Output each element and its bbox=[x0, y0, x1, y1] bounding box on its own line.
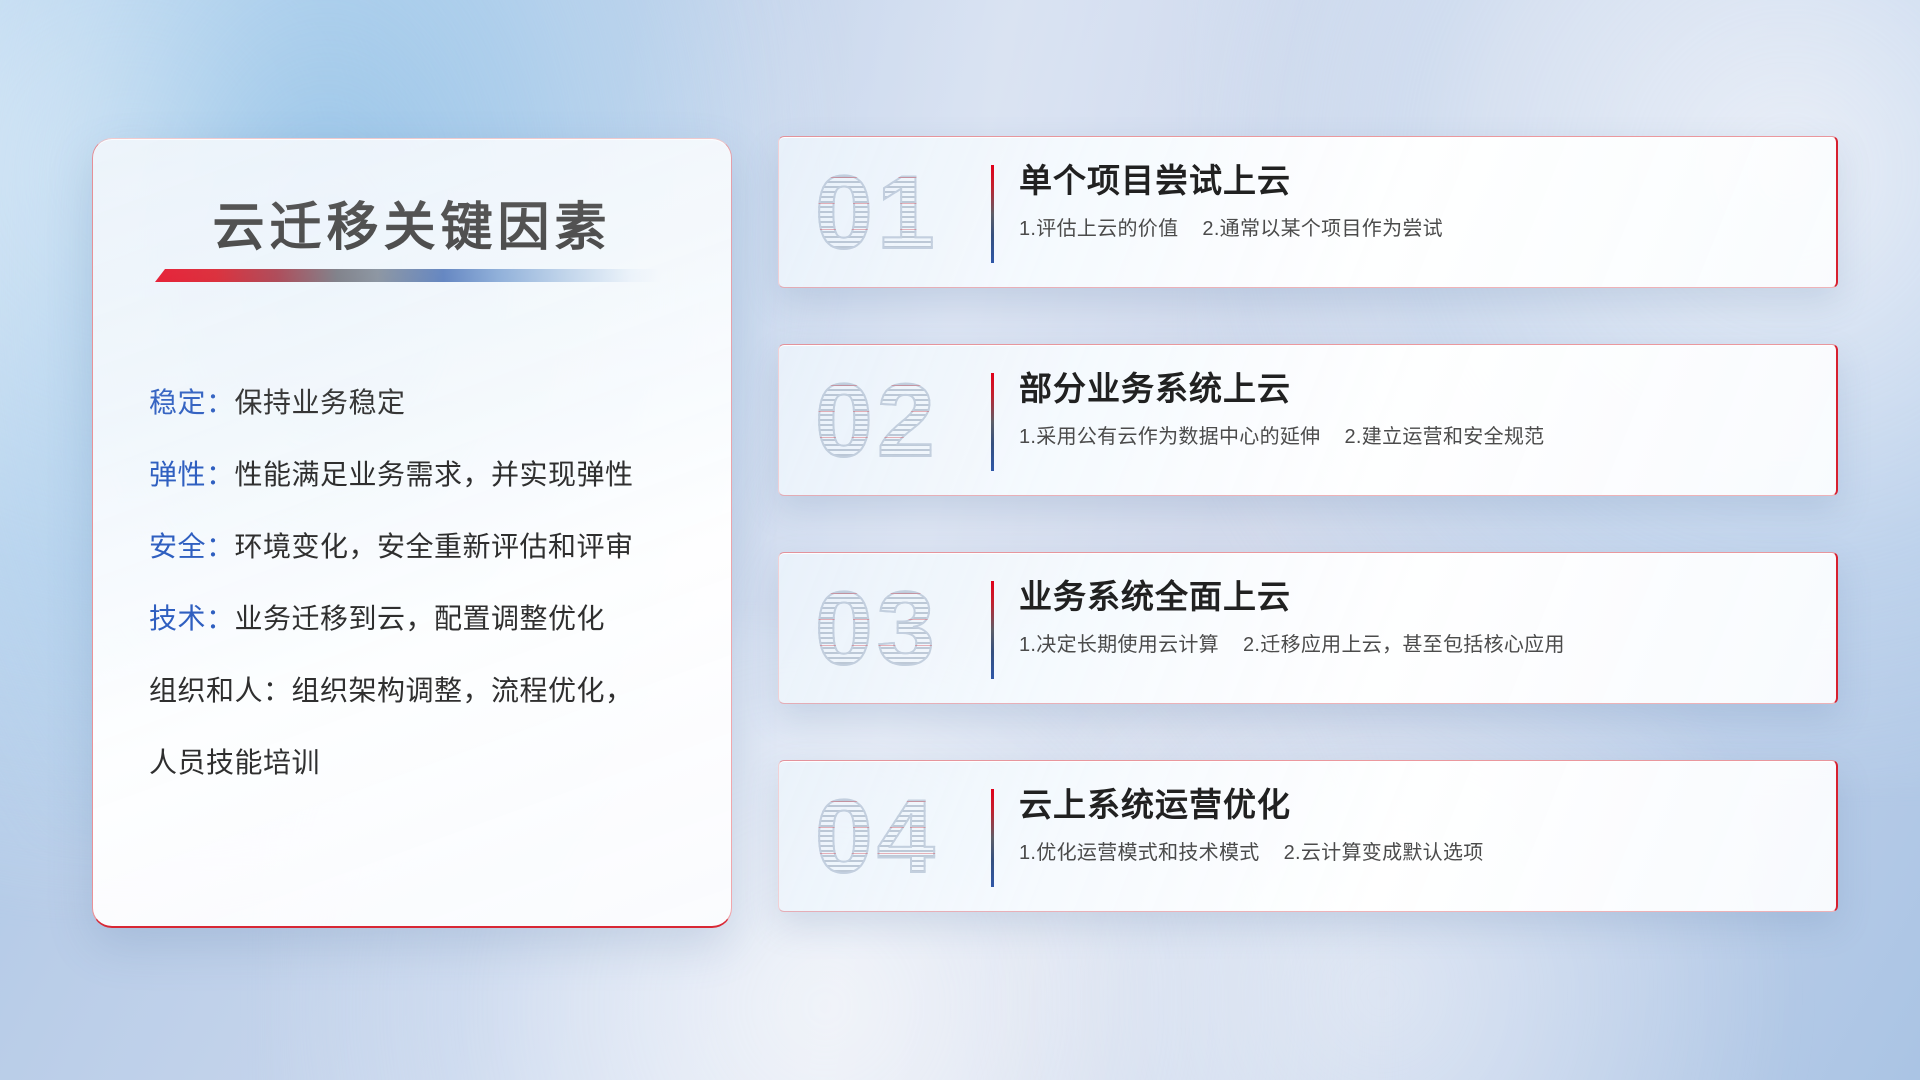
card-title: 单个项目尝试上云 bbox=[1019, 159, 1814, 203]
card-subtitle-item: 2.通常以某个项目作为尝试 bbox=[1202, 218, 1443, 240]
card-subtitle: 1.采用公有云作为数据中心的延伸2.建立运营和安全规范 bbox=[1019, 423, 1814, 451]
migration-stage-cards: 0101单个项目尝试上云1.评估上云的价值2.通常以某个项目作为尝试0202部分… bbox=[778, 136, 1838, 912]
stage-card[interactable]: 0101单个项目尝试上云1.评估上云的价值2.通常以某个项目作为尝试 bbox=[778, 136, 1838, 288]
card-subtitle-item: 2.迁移应用上云，甚至包括核心应用 bbox=[1243, 634, 1565, 656]
card-title: 业务系统全面上云 bbox=[1019, 575, 1814, 619]
key-factor-label: 弹性： bbox=[149, 459, 235, 490]
card-subtitle-item: 2.建立运营和安全规范 bbox=[1344, 426, 1544, 448]
card-subtitle-item: 1.评估上云的价值 bbox=[1019, 218, 1178, 240]
key-factor-line: 技术：业务迁移到云，配置调整优化 bbox=[149, 605, 691, 633]
stage-number-watermark: 04 bbox=[815, 775, 939, 899]
card-accent-rule bbox=[991, 789, 994, 887]
card-text-block: 业务系统全面上云1.决定长期使用云计算2.迁移应用上云，甚至包括核心应用 bbox=[1019, 575, 1814, 659]
card-text-block: 部分业务系统上云1.采用公有云作为数据中心的延伸2.建立运营和安全规范 bbox=[1019, 367, 1814, 451]
card-accent-rule bbox=[991, 165, 994, 263]
key-factors-panel: 云迁移关键因素 稳定：保持业务稳定弹性：性能满足业务需求，并实现弹性安全：环境变… bbox=[92, 138, 732, 928]
key-factor-line: 人员技能培训 bbox=[149, 749, 691, 777]
stage-card[interactable]: 0404云上系统运营优化1.优化运营模式和技术模式2.云计算变成默认选项 bbox=[778, 760, 1838, 912]
key-factor-label: 稳定： bbox=[149, 387, 235, 418]
key-factor-label: 安全： bbox=[149, 531, 235, 562]
card-subtitle: 1.评估上云的价值2.通常以某个项目作为尝试 bbox=[1019, 215, 1814, 243]
card-subtitle-item: 2.云计算变成默认选项 bbox=[1284, 842, 1484, 864]
card-subtitle-item: 1.优化运营模式和技术模式 bbox=[1019, 842, 1260, 864]
key-factor-line: 稳定：保持业务稳定 bbox=[149, 389, 691, 417]
stage-number-watermark: 01 bbox=[815, 151, 939, 275]
key-factor-text: 环境变化，安全重新评估和评审 bbox=[235, 531, 634, 562]
key-factor-text: 性能满足业务需求，并实现弹性 bbox=[235, 459, 634, 490]
card-accent-rule bbox=[991, 581, 994, 679]
slide-stage: 云迁移关键因素 稳定：保持业务稳定弹性：性能满足业务需求，并实现弹性安全：环境变… bbox=[0, 0, 1920, 1080]
card-title: 云上系统运营优化 bbox=[1019, 783, 1814, 827]
key-factor-line: 安全：环境变化，安全重新评估和评审 bbox=[149, 533, 691, 561]
stage-number-watermark: 02 bbox=[815, 359, 939, 483]
key-factor-line: 组织和人：组织架构调整，流程优化， bbox=[149, 677, 691, 705]
card-accent-rule bbox=[991, 373, 994, 471]
key-factor-label: 组织和人： bbox=[149, 675, 292, 706]
key-factor-label: 技术： bbox=[149, 603, 235, 634]
key-factor-text: 人员技能培训 bbox=[149, 747, 320, 778]
title-underline-accent bbox=[155, 269, 661, 282]
key-factor-line: 弹性：性能满足业务需求，并实现弹性 bbox=[149, 461, 691, 489]
card-subtitle: 1.决定长期使用云计算2.迁移应用上云，甚至包括核心应用 bbox=[1019, 631, 1814, 659]
card-text-block: 云上系统运营优化1.优化运营模式和技术模式2.云计算变成默认选项 bbox=[1019, 783, 1814, 867]
stage-card[interactable]: 0202部分业务系统上云1.采用公有云作为数据中心的延伸2.建立运营和安全规范 bbox=[778, 344, 1838, 496]
card-subtitle-item: 1.采用公有云作为数据中心的延伸 bbox=[1019, 426, 1320, 448]
key-factors-list: 稳定：保持业务稳定弹性：性能满足业务需求，并实现弹性安全：环境变化，安全重新评估… bbox=[149, 389, 691, 777]
page-title: 云迁移关键因素 bbox=[93, 185, 731, 260]
key-factor-text: 保持业务稳定 bbox=[235, 387, 406, 418]
card-subtitle: 1.优化运营模式和技术模式2.云计算变成默认选项 bbox=[1019, 839, 1814, 867]
card-subtitle-item: 1.决定长期使用云计算 bbox=[1019, 634, 1219, 656]
stage-card[interactable]: 0303业务系统全面上云1.决定长期使用云计算2.迁移应用上云，甚至包括核心应用 bbox=[778, 552, 1838, 704]
card-text-block: 单个项目尝试上云1.评估上云的价值2.通常以某个项目作为尝试 bbox=[1019, 159, 1814, 243]
stage-number-watermark: 03 bbox=[815, 567, 939, 691]
key-factor-text: 业务迁移到云，配置调整优化 bbox=[235, 603, 606, 634]
key-factor-text: 组织架构调整，流程优化， bbox=[292, 675, 634, 706]
card-title: 部分业务系统上云 bbox=[1019, 367, 1814, 411]
